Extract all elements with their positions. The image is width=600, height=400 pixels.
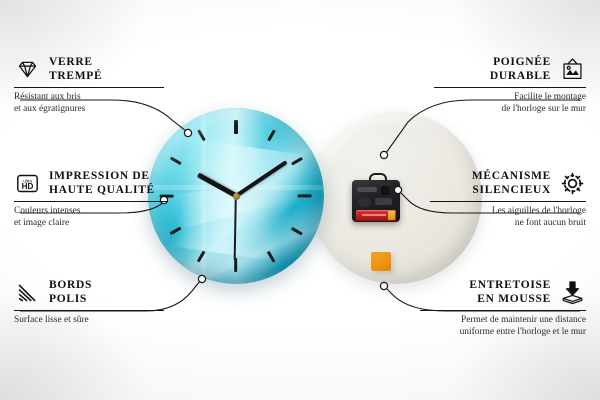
feature-title: POIGNÉE DURABLE <box>490 56 551 83</box>
feature-bords-polis: BORDS POLIS Surface lisse et sûre <box>14 279 164 327</box>
foam-spacer <box>371 252 391 271</box>
feature-subtitle: Facilite le montage de l'horloge sur le … <box>434 92 586 115</box>
feature-divider <box>14 310 164 311</box>
feature-header: ENTRETOISE EN MOUSSE <box>420 279 586 306</box>
feature-subtitle: Résistant aux bris et aux égratignures <box>14 92 164 115</box>
diamond-icon <box>14 56 41 83</box>
feature-title: VERRE TREMPÉ <box>49 56 102 83</box>
mechanism-detail <box>357 187 377 192</box>
polished-edges-icon <box>14 279 41 306</box>
feature-header: ultra HD IMPRESSION DE HAUTE QUALITÉ <box>14 170 168 197</box>
mechanism-detail <box>358 197 371 207</box>
infographic-canvas: VERRE TREMPÉ Résistant aux bris et aux é… <box>0 0 600 400</box>
feature-divider <box>430 201 586 202</box>
feature-title: ENTRETOISE EN MOUSSE <box>469 279 551 306</box>
svg-text:HD: HD <box>22 182 34 191</box>
clock-mechanism <box>352 178 400 222</box>
feature-subtitle: Les aiguilles de l'horloge ne font aucun… <box>430 206 586 229</box>
feature-entretoise-en-mousse: ENTRETOISE EN MOUSSE Permet de maintenir… <box>420 279 586 338</box>
wall-clock-front <box>148 108 324 284</box>
feature-divider <box>14 87 164 88</box>
foam-spacer-icon <box>559 279 586 306</box>
feature-impression-haute-qualite: ultra HD IMPRESSION DE HAUTE QUALITÉ Cou… <box>14 170 168 229</box>
feature-subtitle: Couleurs intenses et image claire <box>14 206 168 229</box>
feature-title: IMPRESSION DE HAUTE QUALITÉ <box>49 170 155 197</box>
mechanism-detail <box>381 186 389 195</box>
feature-mecanisme-silencieux: MÉCANISME SILENCIEUX Les aiguilles de l'… <box>430 170 586 229</box>
feature-header: BORDS POLIS <box>14 279 164 306</box>
feature-title: MÉCANISME SILENCIEUX <box>472 170 551 197</box>
feature-header: VERRE TREMPÉ <box>14 56 164 83</box>
feature-divider <box>420 310 586 311</box>
feature-title: BORDS POLIS <box>49 279 92 306</box>
feature-header: MÉCANISME SILENCIEUX <box>430 170 586 197</box>
feature-poignee-durable: POIGNÉE DURABLE Facilite le montage de l… <box>434 56 586 115</box>
mechanism-body <box>352 180 400 222</box>
battery-terminal <box>388 211 395 220</box>
battery-stripe <box>362 214 386 216</box>
feature-header: POIGNÉE DURABLE <box>434 56 586 83</box>
feature-subtitle: Surface lisse et sûre <box>14 315 164 327</box>
battery <box>356 210 396 221</box>
hanging-frame-icon <box>559 56 586 83</box>
feature-verre-trempe: VERRE TREMPÉ Résistant aux bris et aux é… <box>14 56 164 115</box>
feature-divider <box>434 87 586 88</box>
mechanism-detail <box>375 198 392 205</box>
feature-subtitle: Permet de maintenir une distance uniform… <box>420 315 586 338</box>
gear-icon <box>559 170 586 197</box>
clock-rim <box>148 108 324 284</box>
ultra-hd-icon: ultra HD <box>14 170 41 197</box>
feature-divider <box>14 201 168 202</box>
